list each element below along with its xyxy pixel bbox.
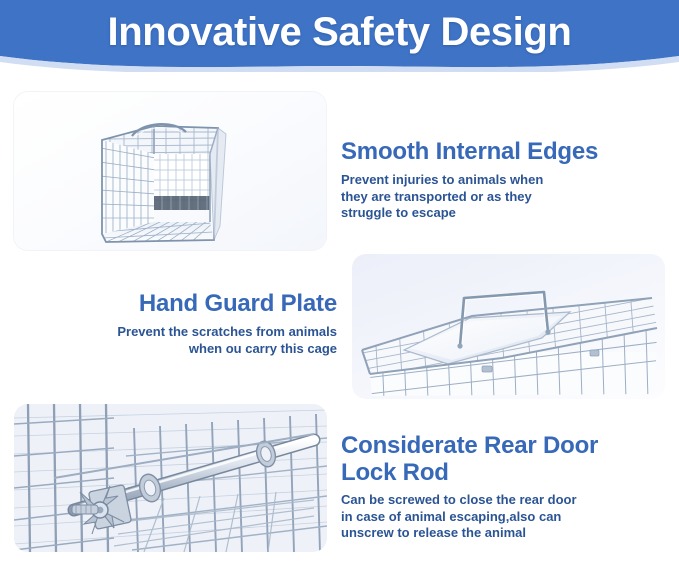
page-title: Innovative Safety Design — [0, 8, 679, 56]
hand-guard-plate-illustration — [352, 254, 665, 399]
feature-image-hand-guard — [352, 254, 665, 399]
feature-text-lock-rod: Considerate Rear Door Lock Rod Can be sc… — [341, 432, 671, 542]
feature-image-smooth-edges — [14, 92, 326, 250]
feature-image-lock-rod — [14, 404, 327, 552]
feature-body-lock-rod: Can be screwed to close the rear door in… — [341, 492, 671, 542]
feature-body-hand-guard: Prevent the scratches from animals when … — [57, 324, 337, 357]
feature-heading-smooth-edges: Smooth Internal Edges — [341, 138, 671, 166]
cage-interior-illustration — [14, 92, 326, 250]
feature-text-smooth-edges: Smooth Internal Edges Prevent injuries t… — [341, 138, 671, 222]
feature-heading-lock-rod: Considerate Rear Door Lock Rod — [341, 432, 671, 486]
feature-text-hand-guard: Hand Guard Plate Prevent the scratches f… — [57, 290, 337, 357]
feature-heading-hand-guard: Hand Guard Plate — [57, 290, 337, 318]
rear-door-lock-rod-illustration — [14, 404, 327, 552]
header-banner: Innovative Safety Design — [0, 0, 679, 72]
feature-body-smooth-edges: Prevent injuries to animals when they ar… — [341, 172, 671, 222]
